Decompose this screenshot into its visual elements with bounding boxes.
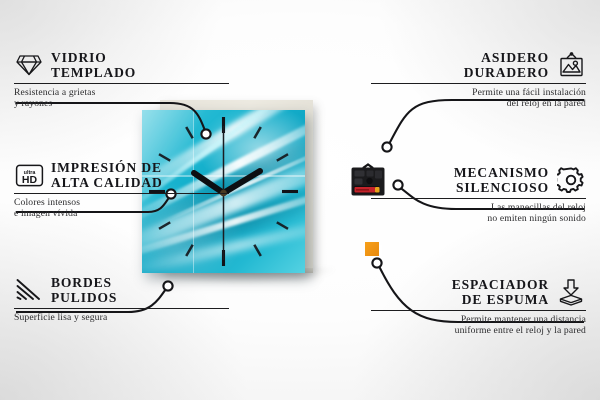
feature-title-line1: ASIDERO	[464, 50, 549, 65]
feature-desc-line2: uniforme entre el reloj y la pared	[371, 325, 586, 336]
feature-title-line2: DE ESPUMA	[452, 292, 549, 307]
diamond-icon	[14, 50, 44, 80]
polished-edge-icon	[14, 275, 44, 305]
feature-title-line2: PULIDOS	[51, 290, 117, 305]
gear-icon	[556, 165, 586, 195]
feature-desc-line1: Resistencia a grietas	[14, 87, 229, 98]
feature-divider	[371, 310, 586, 311]
feature-title-line1: VIDRIO	[51, 50, 136, 65]
feature-vidrio-templado: VIDRIO TEMPLADO Resistencia a grietas y …	[14, 50, 229, 110]
feature-divider	[371, 198, 586, 199]
wire-endpoint-dot	[201, 129, 210, 138]
feature-title-line2: SILENCIOSO	[454, 180, 549, 195]
feature-divider	[371, 83, 586, 84]
svg-text:HD: HD	[21, 174, 37, 186]
product-infographic: VIDRIO TEMPLADO Resistencia a grietas y …	[0, 0, 600, 400]
feature-title-line2: TEMPLADO	[51, 65, 136, 80]
feature-title-line2: DURADERO	[464, 65, 549, 80]
feature-title-line1: MECANISMO	[454, 165, 549, 180]
feature-desc-line1: Colores intensos	[14, 197, 229, 208]
feature-desc-line1: Las manecillas del reloj	[371, 202, 586, 213]
feature-desc-line1: Permite mantener una distancia	[371, 314, 586, 325]
feature-impresion-alta-calidad: ultra HD IMPRESIÓN DE ALTA CALIDAD Color…	[14, 160, 229, 220]
feature-espaciador-espuma: ESPACIADOR DE ESPUMA Permite mantener un…	[371, 277, 586, 337]
feature-desc-line1: Permite una fácil instalación	[371, 87, 586, 98]
feature-title-line1: BORDES	[51, 275, 117, 290]
feature-title-line1: ESPACIADOR	[452, 277, 549, 292]
feature-desc-line2: del reloj en la pared	[371, 98, 586, 109]
feature-title-line2: ALTA CALIDAD	[51, 175, 163, 190]
feature-desc-line1: Superficie lisa y segura	[14, 312, 229, 323]
feature-title-line1: IMPRESIÓN DE	[51, 160, 163, 175]
feature-divider	[14, 308, 229, 309]
wire-endpoint-dot	[372, 258, 381, 267]
wire-endpoint-dot	[382, 142, 391, 151]
feature-mecanismo-silencioso: MECANISMO SILENCIOSO Las manecillas del …	[371, 165, 586, 225]
feature-asidero-duradero: ASIDERO DURADERO Permite una fácil insta…	[371, 50, 586, 110]
feature-bordes-pulidos: BORDES PULIDOS Superficie lisa y segura	[14, 275, 229, 323]
ultra-hd-icon: ultra HD	[14, 160, 44, 190]
feature-divider	[14, 193, 229, 194]
feature-divider	[14, 83, 229, 84]
hanging-frame-icon	[556, 50, 586, 80]
feature-desc-line2: no emiten ningún sonido	[371, 213, 586, 224]
feature-desc-line2: y rayones	[14, 98, 229, 109]
foam-spacer-icon	[556, 277, 586, 307]
feature-desc-line2: e imagen vívida	[14, 208, 229, 219]
